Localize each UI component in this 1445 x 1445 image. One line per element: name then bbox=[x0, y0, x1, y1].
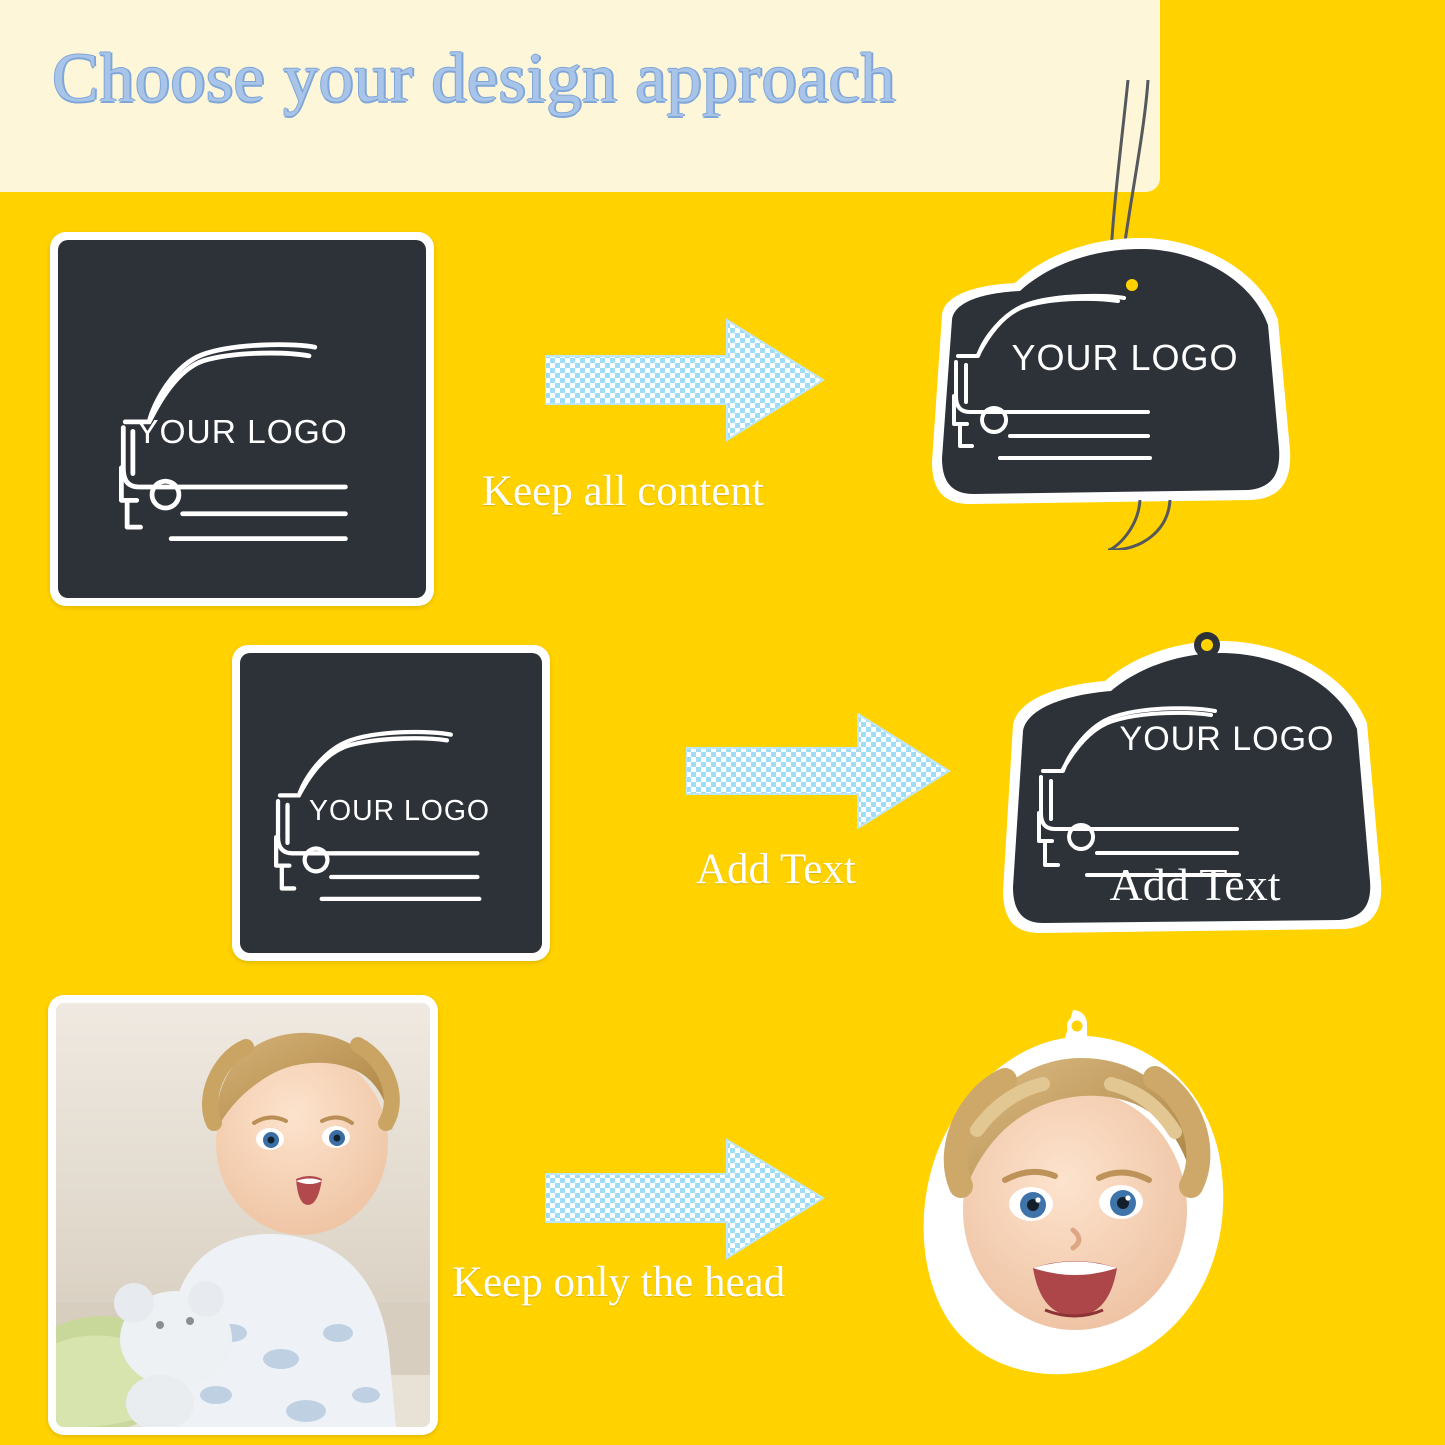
result-logo-text-1: YOUR LOGO bbox=[1011, 337, 1238, 378]
source-image-add-text: YOUR LOGO bbox=[232, 645, 550, 961]
caption-add-text: Add Text bbox=[696, 845, 856, 894]
source-image-keep-all-content: YOUR LOGO bbox=[50, 232, 434, 606]
logo-tile-2: YOUR LOGO bbox=[240, 653, 542, 953]
result-added-text: Add Text bbox=[1110, 859, 1281, 910]
poster-canvas: Choose your design approach YOUR LOGO bbox=[0, 0, 1445, 1445]
result-tag-keep-only-head bbox=[905, 1000, 1250, 1400]
logo-text-2: YOUR LOGO bbox=[309, 795, 490, 827]
result-tag-keep-all-content: YOUR LOGO bbox=[900, 80, 1320, 550]
logo-text-1: YOUR LOGO bbox=[136, 414, 348, 451]
logo-tile-1: YOUR LOGO bbox=[58, 240, 426, 598]
arrow-icon-keep-only-head bbox=[545, 1138, 825, 1260]
arrow-icon-keep-all-content bbox=[545, 318, 825, 443]
page-title: Choose your design approach bbox=[52, 44, 896, 114]
caption-keep-only-head: Keep only the head bbox=[452, 1258, 785, 1307]
arrow-icon-add-text bbox=[686, 712, 951, 830]
result-logo-text-2: YOUR LOGO bbox=[1120, 720, 1335, 758]
source-image-keep-only-head bbox=[48, 995, 438, 1435]
caption-keep-all-content: Keep all content bbox=[482, 467, 764, 516]
car-logo-icon: YOUR LOGO bbox=[58, 240, 426, 598]
baby-photo bbox=[56, 1003, 430, 1427]
result-tag-add-text: YOUR LOGO Add Text bbox=[995, 615, 1405, 940]
car-logo-icon: YOUR LOGO bbox=[240, 653, 542, 953]
